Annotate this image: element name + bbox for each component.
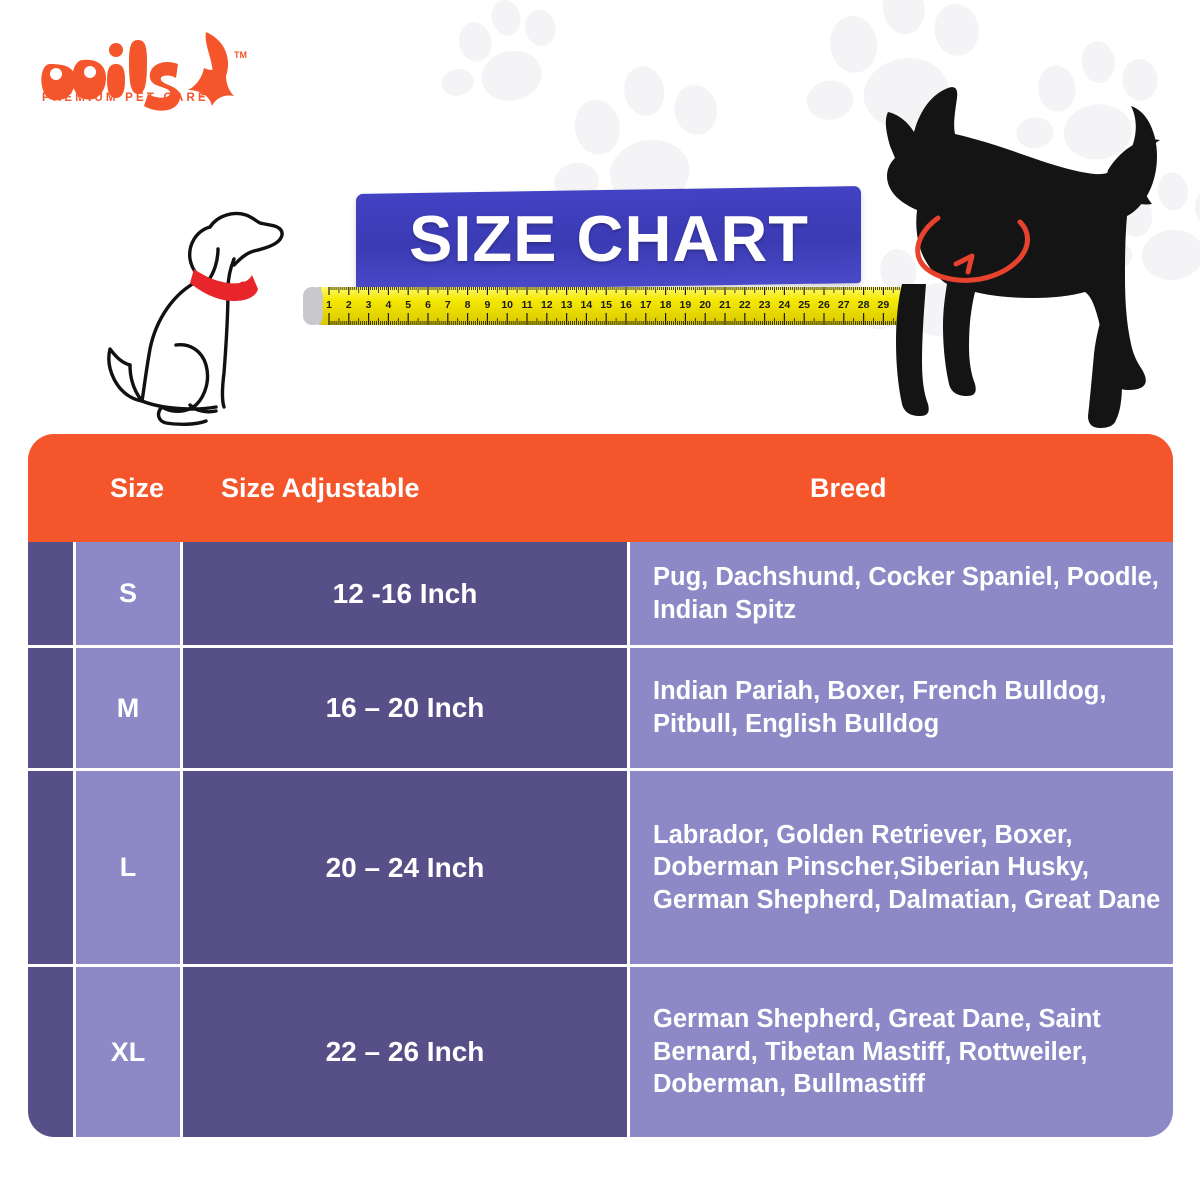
svg-text:3: 3 — [366, 299, 372, 311]
brand-tagline: PREMIUM PET CARE — [42, 92, 209, 104]
svg-text:18: 18 — [660, 299, 672, 311]
cell-adjustable: 16 – 20 Inch — [183, 648, 630, 768]
cell-breed: Pug, Dachshund, Cocker Spaniel, Poodle, … — [630, 542, 1173, 645]
svg-text:13: 13 — [561, 299, 573, 311]
column-header-size: Size — [28, 473, 183, 504]
svg-text:9: 9 — [484, 299, 490, 311]
svg-text:16: 16 — [620, 299, 632, 311]
cell-adjustable: 20 – 24 Inch — [183, 771, 630, 964]
svg-text:4: 4 — [385, 299, 391, 311]
size-chart-table: Size Size Adjustable Breed S 12 -16 Inch… — [28, 434, 1173, 1137]
standing-dog-silhouette-icon — [778, 78, 1188, 448]
sitting-dog-outline-icon — [58, 185, 328, 435]
svg-text:2: 2 — [346, 299, 352, 311]
dog-collar-icon — [190, 269, 258, 301]
table-body: S 12 -16 Inch Pug, Dachshund, Cocker Spa… — [28, 542, 1173, 1137]
row-accent-stripe — [28, 648, 73, 768]
svg-text:15: 15 — [600, 299, 612, 311]
table-header-row: Size Size Adjustable Breed — [28, 434, 1173, 542]
column-header-adjustable: Size Adjustable — [183, 473, 630, 504]
svg-text:12: 12 — [541, 299, 553, 311]
svg-text:1: 1 — [326, 299, 332, 311]
cell-size: L — [73, 771, 183, 964]
svg-text:21: 21 — [719, 299, 731, 311]
brand-logo[interactable]: TM — [38, 28, 288, 138]
svg-text:20: 20 — [699, 299, 711, 311]
svg-text:17: 17 — [640, 299, 652, 311]
row-accent-stripe — [28, 542, 73, 645]
cell-breed: Indian Pariah, Boxer, French Bulldog, Pi… — [630, 648, 1173, 768]
table-row: L 20 – 24 Inch Labrador, Golden Retrieve… — [28, 771, 1173, 967]
table-row: S 12 -16 Inch Pug, Dachshund, Cocker Spa… — [28, 542, 1173, 648]
cell-breed: German Shepherd, Great Dane, Saint Berna… — [630, 967, 1173, 1137]
table-row: XL 22 – 26 Inch German Shepherd, Great D… — [28, 967, 1173, 1137]
svg-text:10: 10 — [501, 299, 513, 311]
cell-breed: Labrador, Golden Retriever, Boxer, Dober… — [630, 771, 1173, 964]
cell-size: M — [73, 648, 183, 768]
page-title: SIZE CHART — [409, 206, 809, 271]
svg-text:14: 14 — [581, 299, 593, 311]
svg-text:19: 19 — [680, 299, 692, 311]
cell-adjustable: 12 -16 Inch — [183, 542, 630, 645]
table-row: M 16 – 20 Inch Indian Pariah, Boxer, Fre… — [28, 648, 1173, 771]
svg-text:6: 6 — [425, 299, 431, 311]
svg-text:8: 8 — [465, 299, 471, 311]
row-accent-stripe — [28, 967, 73, 1137]
cell-size: XL — [73, 967, 183, 1137]
svg-text:7: 7 — [445, 299, 451, 311]
column-header-breed: Breed — [630, 473, 1173, 504]
cell-size: S — [73, 542, 183, 645]
row-accent-stripe — [28, 771, 73, 964]
svg-text:22: 22 — [739, 299, 751, 311]
svg-text:23: 23 — [759, 299, 771, 311]
svg-text:11: 11 — [521, 299, 532, 311]
svg-text:5: 5 — [405, 299, 411, 311]
cell-adjustable: 22 – 26 Inch — [183, 967, 630, 1137]
svg-text:TM: TM — [234, 50, 247, 60]
